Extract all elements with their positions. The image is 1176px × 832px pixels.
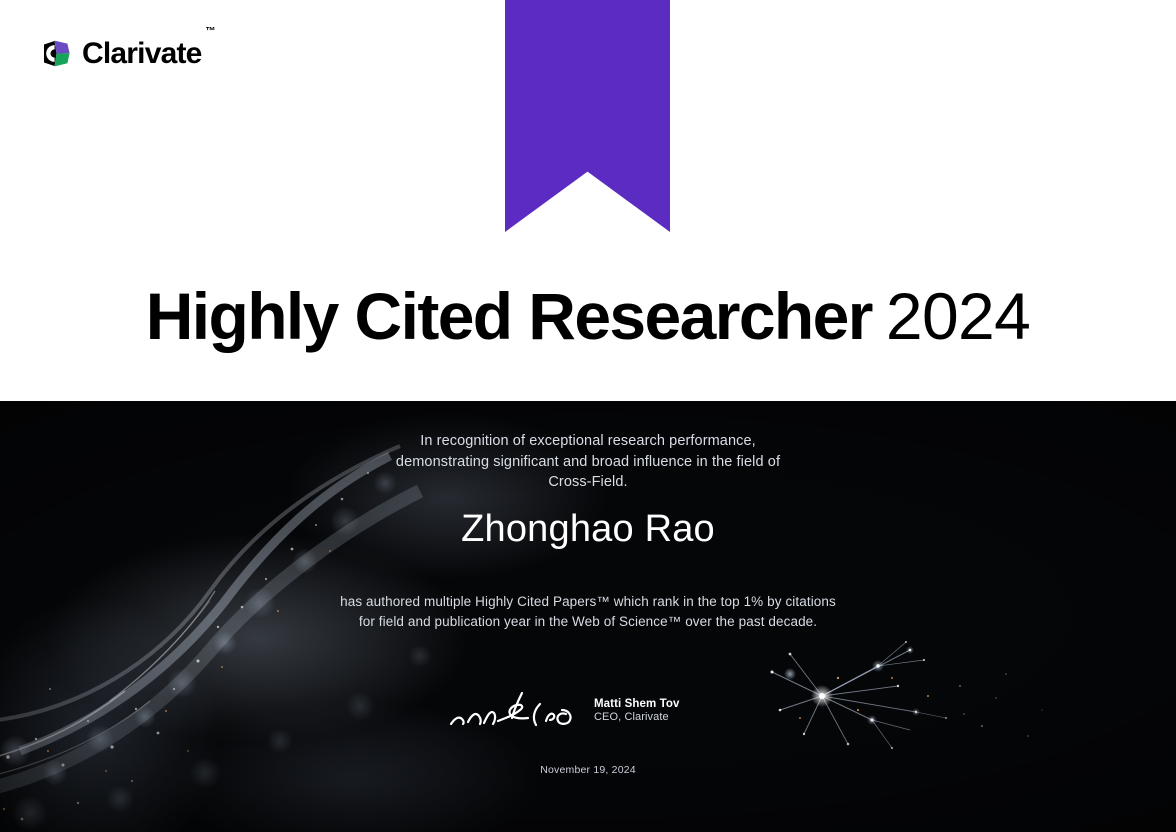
- award-description-line-2: for field and publication year in the We…: [0, 612, 1176, 632]
- certificate: Clarivate ™ Highly Cited Researcher2024: [0, 0, 1176, 832]
- certificate-body: In recognition of exceptional research p…: [0, 401, 1176, 832]
- award-year: 2024: [886, 279, 1030, 353]
- issue-date: November 19, 2024: [0, 764, 1176, 776]
- handwritten-signature-icon: [448, 688, 580, 732]
- recognition-line-1: In recognition of exceptional research p…: [0, 431, 1176, 452]
- award-description: has authored multiple Highly Cited Paper…: [0, 592, 1176, 631]
- signatory-role: CEO, Clarivate: [594, 711, 680, 724]
- recognition-statement: In recognition of exceptional research p…: [0, 431, 1176, 493]
- signatory-details: Matti Shem Tov CEO, Clarivate: [594, 695, 680, 724]
- award-description-line-1: has authored multiple Highly Cited Paper…: [0, 592, 1176, 612]
- signature-block: Matti Shem Tov CEO, Clarivate: [448, 684, 748, 736]
- page-title: Highly Cited Researcher2024: [0, 278, 1176, 354]
- signatory-name: Matti Shem Tov: [594, 697, 680, 711]
- recognition-line-2: demonstrating significant and broad infl…: [0, 452, 1176, 473]
- clarivate-wordmark: Clarivate ™: [82, 39, 202, 69]
- purple-ribbon-banner: [505, 0, 670, 232]
- recipient-name: Zhonghao Rao: [0, 508, 1176, 551]
- certificate-header: Clarivate ™ Highly Cited Researcher2024: [0, 0, 1176, 401]
- clarivate-logo: Clarivate ™: [40, 37, 202, 70]
- recognition-field: Cross-Field.: [0, 472, 1176, 493]
- clarivate-hexagon-mark-icon: [40, 37, 73, 70]
- clarivate-wordmark-text: Clarivate: [82, 37, 202, 70]
- award-title: Highly Cited Researcher: [146, 279, 872, 353]
- trademark-symbol: ™: [206, 27, 216, 37]
